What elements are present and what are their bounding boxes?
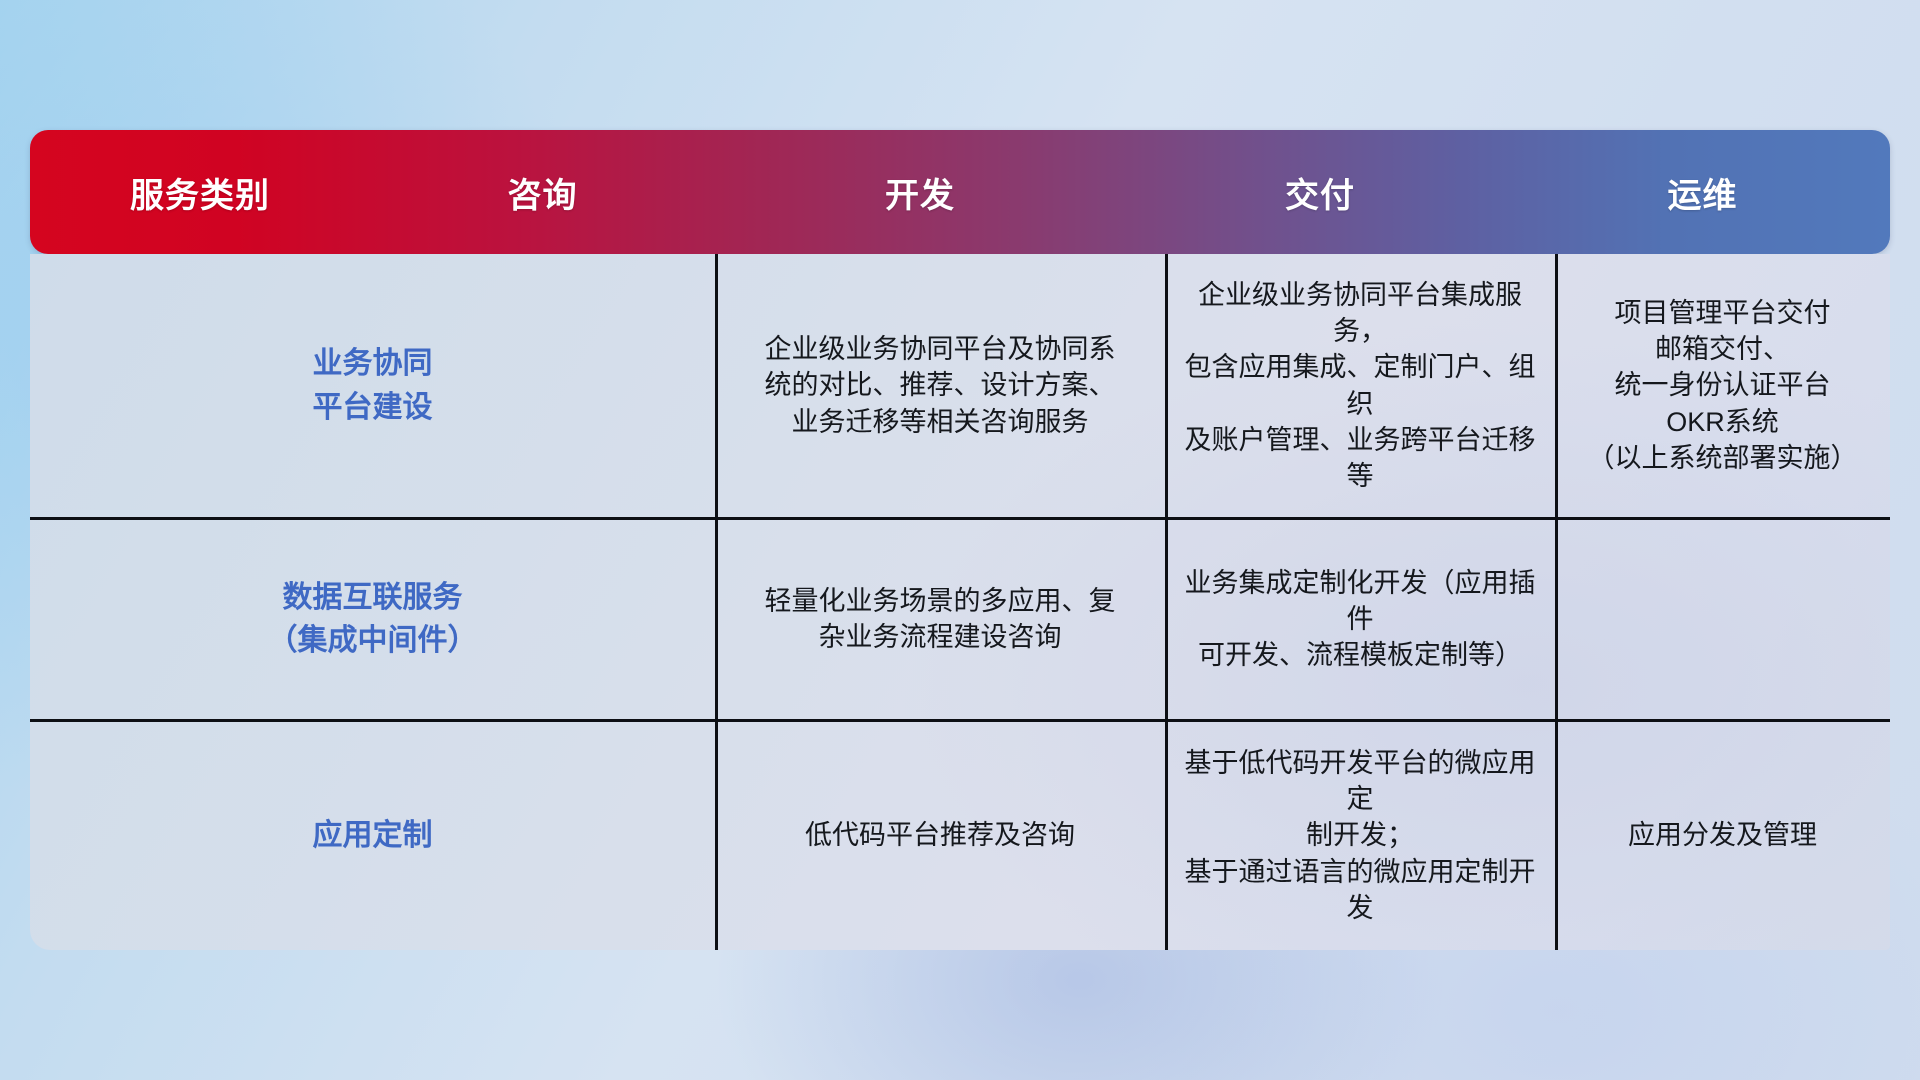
cell-delivery-row3: 应用分发及管理 [1555, 721, 1890, 950]
column-divider [1165, 254, 1168, 950]
cell-text: 轻量化业务场景的多应用、复 杂业务流程建设咨询 [765, 583, 1116, 655]
table-header-row: 服务类别 咨询 开发 交付 运维 [30, 130, 1890, 254]
cell-text: 应用定制 [313, 814, 433, 858]
row-divider [30, 517, 1890, 520]
cell-category-row2: 数据互联服务 （集成中间件） [30, 519, 715, 719]
column-header-delivery: 交付 [1125, 168, 1515, 217]
cell-text: 数据互联服务 （集成中间件） [268, 576, 478, 663]
cell-text: 企业级业务协同平台集成服务， 包含应用集成、定制门户、组织 及账户管理、业务跨平… [1183, 277, 1537, 494]
cell-text: 企业级业务协同平台及协同系 统的对比、推荐、设计方案、 业务迁移等相关咨询服务 [765, 331, 1116, 440]
cell-text: 业务协同 平台建设 [313, 342, 433, 429]
cell-category-row3: 应用定制 [30, 721, 715, 950]
cell-consulting-row3: 低代码平台推荐及咨询 [715, 721, 1165, 950]
table-row: 应用定制 低代码平台推荐及咨询 基于低代码开发平台的微应用定 制开发； 基于通过… [30, 721, 1890, 950]
cell-delivery-row2 [1555, 519, 1890, 719]
column-header-development: 开发 [715, 168, 1125, 217]
cell-development-row3: 基于低代码开发平台的微应用定 制开发； 基于通过语言的微应用定制开发 [1165, 721, 1555, 950]
column-header-service-category: 服务类别 [30, 168, 370, 217]
cell-consulting-row2: 轻量化业务场景的多应用、复 杂业务流程建设咨询 [715, 519, 1165, 719]
column-header-operations: 运维 [1515, 168, 1890, 217]
table-row: 业务协同 平台建设 企业级业务协同平台及协同系 统的对比、推荐、设计方案、 业务… [30, 254, 1890, 517]
cell-development-row2: 业务集成定制化开发（应用插件 可开发、流程模板定制等） [1165, 519, 1555, 719]
table-row: 数据互联服务 （集成中间件） 轻量化业务场景的多应用、复 杂业务流程建设咨询 业… [30, 519, 1890, 719]
column-divider [1555, 254, 1558, 950]
cell-text: 应用分发及管理 [1628, 817, 1817, 853]
slide-canvas: 服务类别 咨询 开发 交付 运维 业务协同 平台建设 企业级业务协同平台及协同系… [0, 0, 1920, 1080]
cell-text: 业务集成定制化开发（应用插件 可开发、流程模板定制等） [1183, 565, 1537, 674]
table-body: 业务协同 平台建设 企业级业务协同平台及协同系 统的对比、推荐、设计方案、 业务… [30, 254, 1890, 950]
column-header-consulting: 咨询 [370, 168, 715, 217]
cell-consulting-row1: 企业级业务协同平台及协同系 统的对比、推荐、设计方案、 业务迁移等相关咨询服务 [715, 254, 1165, 517]
column-divider [715, 254, 718, 950]
cell-text: 低代码平台推荐及咨询 [805, 817, 1075, 853]
cell-category-row1: 业务协同 平台建设 [30, 254, 715, 517]
cell-delivery-row1: 项目管理平台交付 邮箱交付、 统一身份认证平台 OKR系统 （以上系统部署实施） [1555, 254, 1890, 517]
cell-text: 基于低代码开发平台的微应用定 制开发； 基于通过语言的微应用定制开发 [1183, 745, 1537, 926]
cell-text: 项目管理平台交付 邮箱交付、 统一身份认证平台 OKR系统 （以上系统部署实施） [1588, 295, 1858, 476]
cell-development-row1: 企业级业务协同平台集成服务， 包含应用集成、定制门户、组织 及账户管理、业务跨平… [1165, 254, 1555, 517]
service-matrix-table: 服务类别 咨询 开发 交付 运维 业务协同 平台建设 企业级业务协同平台及协同系… [30, 130, 1890, 950]
row-divider [30, 719, 1890, 722]
